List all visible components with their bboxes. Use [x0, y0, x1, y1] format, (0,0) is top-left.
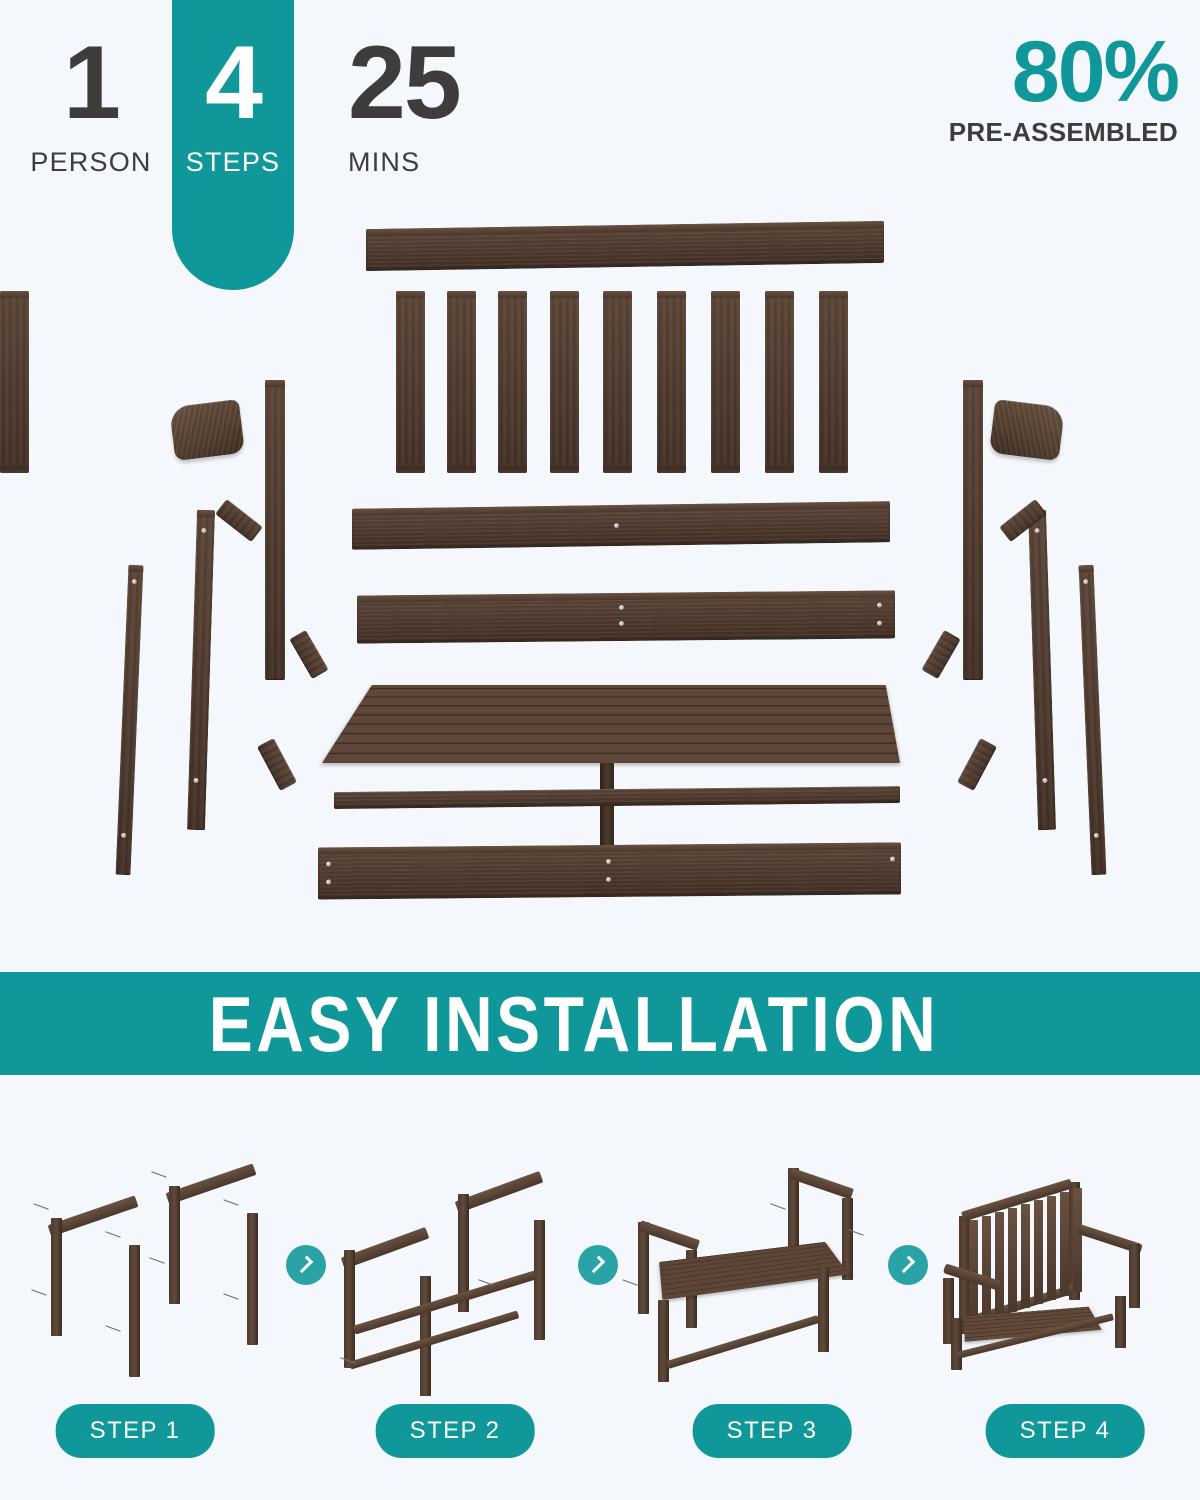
screw-hole	[1083, 579, 1088, 584]
part-back-slat	[0, 291, 29, 473]
exploded-parts-diagram	[0, 215, 1200, 955]
screw-hole	[193, 778, 198, 783]
stat-mins: 25 MINS	[318, 34, 498, 178]
rail-top-edge	[366, 221, 884, 236]
banner-title: EASY INSTALLATION	[209, 979, 940, 1069]
part-left-rear-post	[265, 380, 285, 680]
pre-assembled-block: 80% PRE-ASSEMBLED	[949, 34, 1178, 148]
screw-hole	[890, 857, 895, 862]
step-3-label: STEP 3	[693, 1404, 852, 1458]
stat-person-label: PERSON	[16, 147, 166, 178]
stat-mins-number: 25	[348, 34, 498, 133]
part-back-slat	[657, 291, 686, 473]
stat-steps: 4 STEPS	[158, 34, 308, 178]
arrow-step-2-to-3	[578, 1245, 618, 1285]
step-3: STEP 3	[620, 1150, 870, 1500]
chevron-right-icon	[897, 1255, 915, 1273]
part-back-slat	[396, 291, 425, 473]
screw-hole	[326, 861, 331, 866]
step-2-illustration	[330, 1150, 580, 1380]
part-left-bracket	[289, 630, 328, 679]
screw-hole	[877, 621, 882, 626]
step-2: STEP 2	[330, 1150, 580, 1500]
step-3-illustration	[620, 1150, 870, 1380]
part-back-beam	[357, 590, 895, 643]
screw-hole	[877, 603, 882, 608]
screw-hole	[619, 605, 624, 610]
screw-hole	[606, 877, 611, 882]
part-back-slat	[711, 291, 740, 473]
part-left-bracket	[257, 738, 297, 791]
part-seat-panel	[322, 685, 900, 763]
part-left-bracket	[215, 499, 263, 542]
part-left-front-post	[187, 510, 215, 830]
part-back-slat	[819, 291, 848, 473]
screw-hole	[201, 528, 206, 533]
part-left-armrest	[169, 399, 245, 461]
part-right-front-post	[1028, 510, 1056, 830]
part-left-leg	[116, 565, 144, 875]
arrow-step-1-to-2	[286, 1245, 326, 1285]
part-back-slat	[603, 291, 632, 473]
step-1: STEP 1	[5, 1150, 255, 1500]
screw-hole	[619, 621, 624, 626]
part-back-slat	[498, 291, 527, 473]
part-center-support	[600, 763, 614, 855]
screw-hole	[614, 523, 619, 528]
bench-back-slat	[1073, 1188, 1082, 1292]
bench-back-slat	[1047, 1196, 1056, 1300]
part-front-apron	[318, 842, 901, 899]
step-4-illustration	[925, 1150, 1175, 1380]
screw-hole	[1042, 778, 1047, 783]
part-back-slat	[550, 291, 579, 473]
easy-installation-banner: EASY INSTALLATION	[0, 972, 1200, 1075]
screw-hole	[121, 833, 126, 838]
bench-back-slat	[995, 1212, 1004, 1316]
installation-steps: STEP 1	[0, 1150, 1200, 1500]
screw-hole	[326, 879, 331, 884]
part-back-slat	[765, 291, 794, 473]
bench-back-slat	[1034, 1200, 1043, 1304]
stat-person-number: 1	[16, 34, 166, 133]
part-right-armrest	[989, 399, 1065, 461]
part-lower-stretcher	[334, 786, 900, 809]
bench-back-slat	[1021, 1204, 1030, 1308]
screw-hole	[132, 579, 137, 584]
step-2-label: STEP 2	[376, 1404, 535, 1458]
stat-steps-label: STEPS	[158, 147, 308, 178]
part-top-rail	[366, 221, 884, 271]
screw-hole	[606, 859, 611, 864]
bench-back-slat	[1060, 1192, 1069, 1296]
screw-hole	[1094, 833, 1099, 838]
part-right-leg	[1079, 565, 1107, 875]
stat-mins-label: MINS	[348, 147, 498, 178]
arrow-step-3-to-4	[888, 1245, 928, 1285]
product-infographic: 1 PERSON 4 STEPS 25 MINS 80% PRE-ASSEMBL…	[0, 0, 1200, 1500]
step-1-label: STEP 1	[56, 1404, 215, 1458]
bench-front-right-leg	[1115, 1296, 1126, 1348]
part-right-rear-post	[963, 380, 983, 680]
chevron-right-icon	[587, 1255, 605, 1273]
pre-assembled-percent: 80%	[949, 34, 1178, 111]
part-mid-rail	[352, 501, 890, 550]
part-right-bracket	[921, 630, 960, 679]
step-4-label: STEP 4	[986, 1404, 1145, 1458]
bench-front-left-leg	[951, 1318, 962, 1370]
bench-right-arm-post	[1129, 1244, 1140, 1308]
part-back-slat	[447, 291, 476, 473]
stat-steps-number: 4	[158, 34, 308, 133]
step-1-illustration	[5, 1150, 255, 1380]
screw-hole	[1035, 528, 1040, 533]
step-4: STEP 4	[925, 1150, 1175, 1500]
pre-assembled-label: PRE-ASSEMBLED	[949, 117, 1178, 148]
bench-back-slat	[982, 1216, 991, 1320]
chevron-right-icon	[295, 1255, 313, 1273]
part-right-bracket	[957, 738, 997, 791]
stat-person: 1 PERSON	[16, 34, 166, 178]
bench-back-slat	[1008, 1208, 1017, 1312]
